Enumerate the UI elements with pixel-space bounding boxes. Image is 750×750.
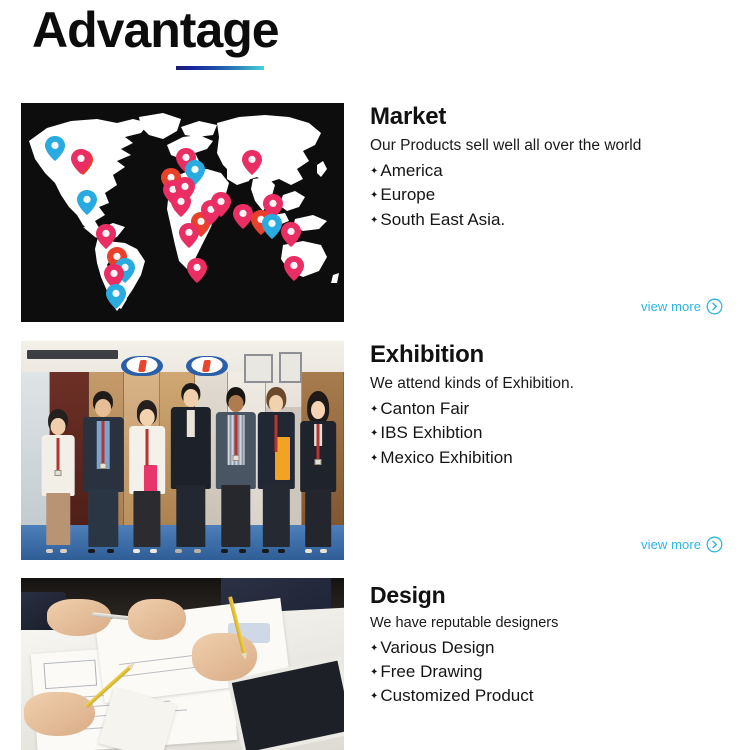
person (215, 387, 257, 553)
view-more-link-market[interactable]: view more (641, 298, 723, 315)
diamond-bullet-icon: ✦ (370, 668, 378, 678)
diamond-bullet-icon: ✦ (370, 191, 378, 201)
list-item-label: America (380, 159, 442, 183)
exhibition-booth-photo (21, 341, 344, 560)
diamond-bullet-icon: ✦ (370, 644, 378, 654)
card-text-market: Market Our Products sell well all over t… (370, 103, 740, 232)
list-item-label: IBS Exhibtion (380, 421, 482, 445)
diamond-bullet-icon: ✦ (370, 429, 378, 439)
card-heading: Design (370, 582, 740, 610)
view-more-label: view more (641, 299, 701, 314)
advantage-card-market: Market Our Products sell well all over t… (0, 103, 750, 341)
person (257, 387, 296, 553)
person (170, 383, 212, 554)
list-item: ✦Mexico Exhibition (370, 446, 740, 470)
card-bullet-list: ✦America ✦Europe ✦South East Asia. (370, 159, 740, 231)
list-item-label: Various Design (380, 636, 494, 660)
card-bullet-list: ✦Various Design ✦Free Drawing ✦Customize… (370, 636, 740, 708)
person (128, 400, 167, 553)
person (299, 391, 338, 553)
list-item: ✦Customized Product (370, 684, 740, 708)
list-item-label: Customized Product (380, 684, 533, 708)
map-pin-cluster (21, 103, 344, 322)
list-item-label: Mexico Exhibition (380, 446, 512, 470)
list-item-label: Canton Fair (380, 397, 469, 421)
card-text-exhibition: Exhibition We attend kinds of Exhibition… (370, 341, 740, 470)
chevron-right-circle-icon (706, 536, 723, 553)
hand (128, 599, 186, 640)
card-heading: Market (370, 103, 740, 132)
diamond-bullet-icon: ✦ (370, 692, 378, 702)
design-meeting-photo (21, 578, 344, 750)
world-map-canvas (21, 103, 344, 322)
diamond-bullet-icon: ✦ (370, 405, 378, 415)
list-item: ✦America (370, 159, 740, 183)
advantage-card-design: Design We have reputable designers ✦Vari… (0, 578, 750, 750)
advantage-section: Advantage (0, 0, 750, 750)
list-item: ✦Various Design (370, 636, 740, 660)
person (40, 409, 76, 554)
diamond-bullet-icon: ✦ (370, 167, 378, 177)
card-bullet-list: ✦Canton Fair ✦IBS Exhibtion ✦Mexico Exhi… (370, 397, 740, 469)
list-item-label: South East Asia. (380, 208, 505, 232)
wall-frame (244, 354, 273, 382)
booth-logo-icon (186, 356, 228, 376)
exhibition-scene (21, 341, 344, 560)
list-item: ✦IBS Exhibtion (370, 421, 740, 445)
chevron-right-circle-icon (706, 298, 723, 315)
card-heading: Exhibition (370, 341, 740, 370)
title-underline-accent (176, 66, 264, 70)
card-text-design: Design We have reputable designers ✦Vari… (370, 582, 740, 708)
list-item: ✦South East Asia. (370, 208, 740, 232)
list-item: ✦Europe (370, 183, 740, 207)
view-more-link-exhibition[interactable]: view more (641, 536, 723, 553)
person (82, 391, 124, 553)
card-subtitle: We attend kinds of Exhibition. (370, 373, 740, 395)
advantage-card-exhibition: Exhibition We attend kinds of Exhibition… (0, 341, 750, 578)
design-scene (21, 578, 344, 750)
list-item-label: Free Drawing (380, 660, 482, 684)
list-item-label: Europe (380, 183, 435, 207)
page-title: Advantage (32, 2, 279, 58)
card-subtitle: We have reputable designers (370, 613, 740, 634)
booth-logo-icon (121, 356, 163, 376)
diamond-bullet-icon: ✦ (370, 454, 378, 464)
list-item: ✦Canton Fair (370, 397, 740, 421)
diamond-bullet-icon: ✦ (370, 216, 378, 226)
ceiling-truss (27, 350, 117, 359)
wall-frame (279, 352, 302, 383)
card-subtitle: Our Products sell well all over the worl… (370, 135, 740, 157)
view-more-label: view more (641, 537, 701, 552)
list-item: ✦Free Drawing (370, 660, 740, 684)
world-map-image (21, 103, 344, 322)
